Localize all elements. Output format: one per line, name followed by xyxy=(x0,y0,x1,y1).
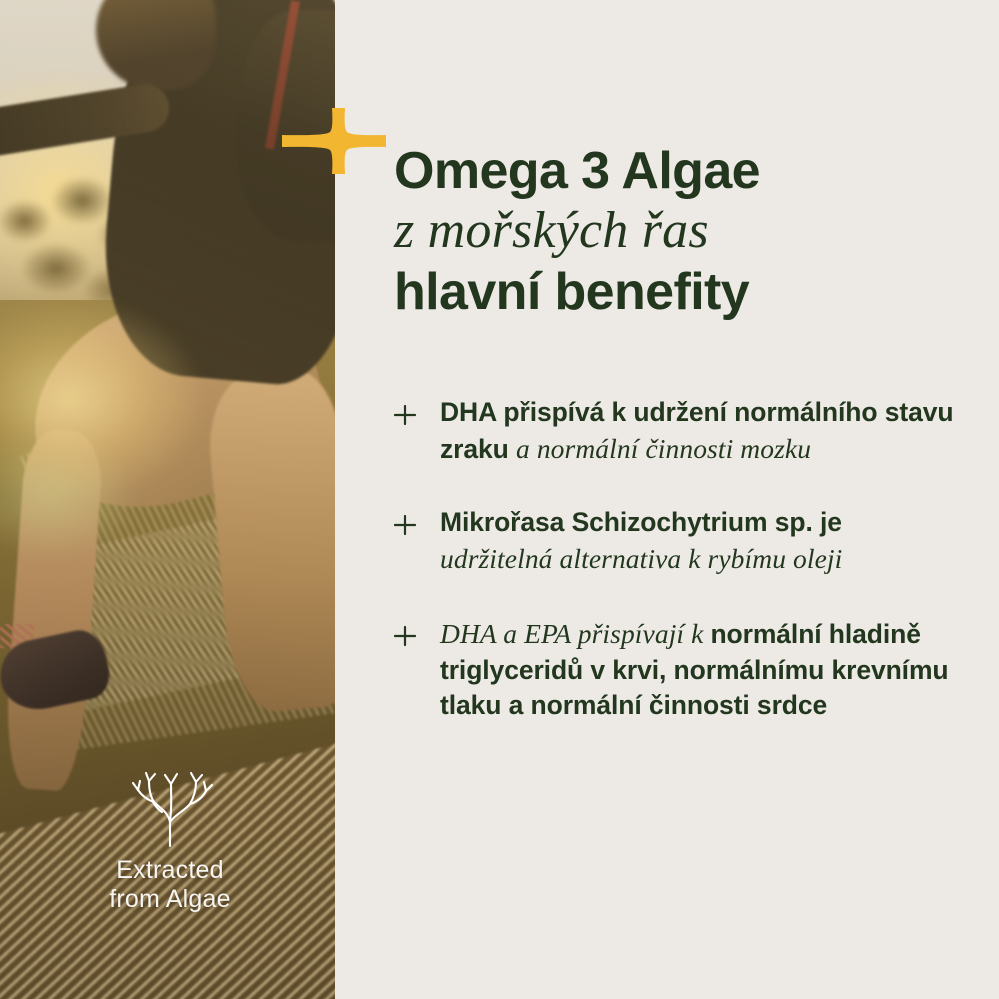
benefits-list: DHA přispívá k udržení normálního stavu … xyxy=(394,395,954,724)
algae-caption-line2: from Algae xyxy=(70,885,270,914)
content-panel: Omega 3 Algae z mořských řas hlavní bene… xyxy=(335,0,999,999)
extracted-from-algae-badge: Extracted from Algae xyxy=(70,762,270,914)
benefit-text: DHA a EPA přispívají k normální hladině … xyxy=(440,616,954,724)
title-line-1: Omega 3 Algae xyxy=(394,143,974,199)
benefit-text-segment: udržitelná alternativa k rybímu oleji xyxy=(440,543,842,574)
benefit-text: DHA přispívá k udržení normálního stavu … xyxy=(440,395,954,467)
title-line-2: z mořských řas xyxy=(394,199,974,262)
algae-caption-line1: Extracted xyxy=(70,856,270,885)
algae-branch-icon xyxy=(70,762,270,848)
benefit-text: Mikrořasa Schizochytrium sp. je udržitel… xyxy=(440,505,954,577)
yellow-plus-ornament-icon xyxy=(282,108,386,174)
plus-icon xyxy=(394,616,440,647)
photo-sun-flare-secondary xyxy=(0,430,140,560)
title-line-3: hlavní benefity xyxy=(394,263,974,322)
page-title: Omega 3 Algae z mořských řas hlavní bene… xyxy=(394,143,974,322)
benefit-text-segment: DHA a EPA přispívají k xyxy=(440,618,710,649)
algae-badge-caption: Extracted from Algae xyxy=(70,856,270,914)
plus-icon xyxy=(394,505,440,536)
benefit-text-segment: Mikrořasa Schizochytrium sp. je xyxy=(440,507,842,537)
promo-graphic: Extracted from Algae Omega 3 Algae z moř… xyxy=(0,0,999,999)
plus-icon xyxy=(394,395,440,426)
benefit-item: DHA a EPA přispívají k normální hladině … xyxy=(394,616,954,724)
benefit-item: Mikrořasa Schizochytrium sp. je udržitel… xyxy=(394,505,954,577)
benefit-text-segment: a normální činnosti mozku xyxy=(516,433,811,464)
benefit-item: DHA přispívá k udržení normálního stavu … xyxy=(394,395,954,467)
